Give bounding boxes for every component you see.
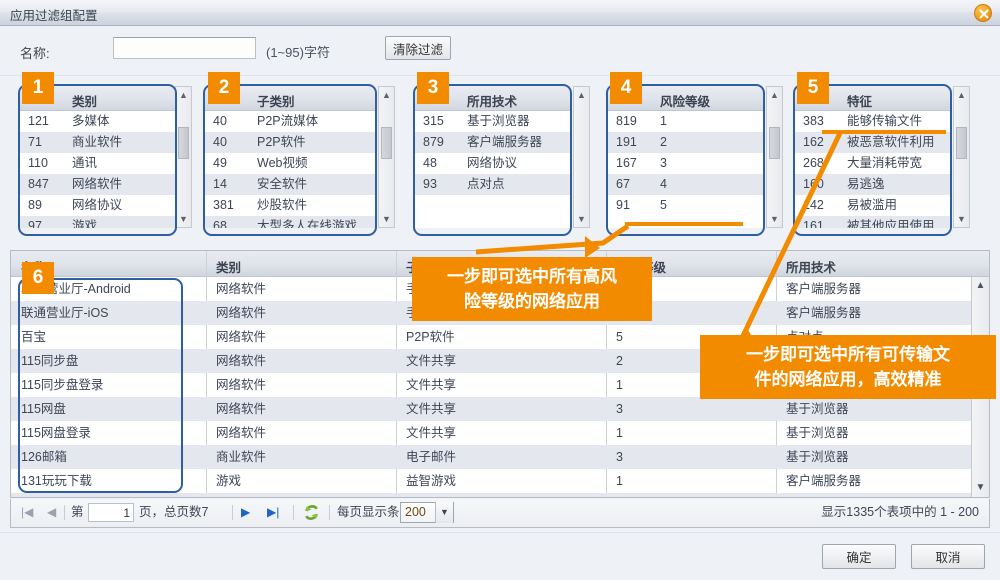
table-row[interactable]: 126邮箱商业软件电子邮件3基于浏览器 [11,445,989,469]
list-item[interactable]: 674 [608,174,763,195]
scrollbar-subcategory[interactable]: ▲ ▼ [378,86,395,228]
column-header-category[interactable]: 类别 [216,257,241,276]
filter-list-characteristic: 383能够传输文件 162被恶意软件利用 268大量消耗带宽 160易逃逸 14… [795,111,950,228]
list-item[interactable]: 847网络软件 [20,174,175,195]
filter-box-characteristic: 特征 383能够传输文件 162被恶意软件利用 268大量消耗带宽 160易逃逸… [795,86,950,228]
next-page-icon[interactable]: ▶ [241,499,250,526]
chevron-down-icon[interactable]: ▼ [176,211,191,227]
list-item[interactable]: 40P2P流媒体 [205,111,375,132]
divider [293,505,294,520]
table-row[interactable]: 131玩玩下载游戏益智游戏1客户端服务器 [11,469,989,493]
divider [329,505,330,520]
filter-box-risk: 风险等级 8191 1912 1673 674 915 [608,86,763,228]
scrollbar-thumb[interactable] [178,127,189,159]
name-label: 名称: [20,43,50,62]
cancel-button[interactable]: 取消 [911,544,985,569]
records-summary: 显示1335个表项中的 1 - 200 [821,499,979,526]
filter-box-category: 类别 121多媒体 71商业软件 110通讯 847网络软件 89网络协议 97… [20,86,175,228]
list-item[interactable]: 93点对点 [415,174,570,195]
callout-risk-level: 一步即可选中所有高风 险等级的网络应用 [412,257,652,321]
list-item[interactable]: 121多媒体 [20,111,175,132]
table-row[interactable]: 115网盘登录网络软件文件共享1基于浏览器 [11,421,989,445]
list-item[interactable]: 1912 [608,132,763,153]
name-row: 名称: (1~95)字符 清除过滤 [0,27,1000,76]
table-row[interactable]: 115网盘网络软件文件共享3基于浏览器 [11,397,989,421]
step-badge-5: 5 [797,72,829,104]
callout-file-transfer: 一步即可选中所有可传输文 件的网络应用，高效精准 [700,335,996,399]
list-item[interactable]: 68大型多人在线游戏 [205,216,375,228]
chevron-up-icon[interactable]: ▲ [379,87,394,103]
list-item[interactable]: 71商业软件 [20,132,175,153]
chevron-down-icon[interactable]: ▼ [954,211,969,227]
first-page-icon[interactable]: |◀ [21,499,33,526]
chevron-up-icon[interactable]: ▲ [954,87,969,103]
page-prefix-label: 第 [71,499,84,526]
scrollbar-thumb[interactable] [769,127,780,159]
scrollbar-category[interactable]: ▲ ▼ [175,86,192,228]
list-item[interactable]: 14安全软件 [205,174,375,195]
filter-list-risk: 8191 1912 1673 674 915 [608,111,763,228]
dialog-footer: 确定 取消 [0,532,1000,580]
confirm-button[interactable]: 确定 [822,544,896,569]
table-row[interactable]: 131玩玩游戏游戏益智游戏1客户端服务器 [11,493,989,497]
filter-list-category: 121多媒体 71商业软件 110通讯 847网络软件 89网络协议 97游戏 [20,111,175,228]
accent-underline-characteristic [822,130,946,134]
list-item[interactable]: 97游戏 [20,216,175,228]
step-badge-2: 2 [208,72,240,104]
page-number-input[interactable] [88,503,134,522]
close-icon[interactable] [974,4,992,22]
list-item[interactable]: 1673 [608,153,763,174]
list-item[interactable]: 48网络协议 [415,153,570,174]
list-item[interactable]: 160易逃逸 [795,174,950,195]
list-item[interactable]: 383能够传输文件 [795,111,950,132]
list-item[interactable]: 268大量消耗带宽 [795,153,950,174]
filter-box-technology: 所用技术 315基于浏览器 879客户端服务器 48网络协议 93点对点 [415,86,570,228]
chevron-up-icon[interactable]: ▲ [176,87,191,103]
step-badge-4: 4 [610,72,642,104]
scrollbar-risk[interactable]: ▲ ▼ [766,86,783,228]
scrollbar-thumb[interactable] [381,127,392,159]
list-item[interactable]: 142易被滥用 [795,195,950,216]
name-input[interactable] [113,37,256,59]
chevron-up-icon[interactable]: ▲ [574,87,589,103]
page-total-label: 页，总页数7 [139,499,208,526]
title-bar: 应用过滤组配置 [0,0,1000,26]
list-item[interactable]: 110通讯 [20,153,175,174]
accent-underline-risk [625,222,743,226]
list-item[interactable]: 161被其他应用使用 [795,216,950,228]
chevron-down-icon[interactable]: ▼ [972,479,989,497]
list-item[interactable]: 49Web视频 [205,153,375,174]
step-badge-3: 3 [417,72,449,104]
list-item[interactable]: 89网络协议 [20,195,175,216]
divider [232,505,233,520]
chevron-up-icon[interactable]: ▲ [972,277,989,295]
chevron-down-icon[interactable]: ▼ [767,211,782,227]
column-header-technology[interactable]: 所用技术 [786,257,836,276]
list-item[interactable]: 315基于浏览器 [415,111,570,132]
chevron-down-icon[interactable]: ▼ [379,211,394,227]
list-item[interactable]: 879客户端服务器 [415,132,570,153]
list-item[interactable]: 381炒股软件 [205,195,375,216]
list-item[interactable]: 8191 [608,111,763,132]
chevron-down-icon[interactable]: ▼ [435,502,453,523]
filter-box-subcategory: 子类别 40P2P流媒体 40P2P软件 49Web视频 14安全软件 381炒… [205,86,375,228]
filter-columns: 类别 121多媒体 71商业软件 110通讯 847网络软件 89网络协议 97… [0,76,1000,236]
filter-list-technology: 315基于浏览器 879客户端服务器 48网络协议 93点对点 [415,111,570,228]
scrollbar-thumb[interactable] [956,127,967,159]
step-badge-6: 6 [22,262,54,294]
prev-page-icon[interactable]: ◀ [47,499,56,526]
per-page-value: 200 [405,505,426,519]
per-page-select[interactable]: 200 ▼ [400,502,454,523]
filter-list-subcategory: 40P2P流媒体 40P2P软件 49Web视频 14安全软件 381炒股软件 … [205,111,375,228]
scrollbar-characteristic[interactable]: ▲ ▼ [953,86,970,228]
last-page-icon[interactable]: ▶| [267,499,279,526]
scrollbar-technology[interactable]: ▲ ▼ [573,86,590,228]
list-item[interactable]: 40P2P软件 [205,132,375,153]
name-length-hint: (1~95)字符 [266,42,330,61]
list-item[interactable]: 915 [608,195,763,216]
chevron-up-icon[interactable]: ▲ [767,87,782,103]
page-title: 应用过滤组配置 [10,5,98,24]
refresh-icon[interactable] [303,504,320,521]
clear-filter-button[interactable]: 清除过滤 [385,36,451,60]
pagination-bar: |◀ ◀ 第 页，总页数7 ▶ ▶| 每页显示条目数 200 ▼ 显示1335个… [10,499,990,528]
chevron-down-icon[interactable]: ▼ [574,211,589,227]
list-item[interactable] [415,195,570,216]
step-badge-1: 1 [22,72,54,104]
dialog-window: 应用过滤组配置 名称: (1~95)字符 清除过滤 类别 121多媒体 71商业… [0,0,1000,580]
list-item[interactable] [415,216,570,228]
list-item[interactable]: 162被恶意软件利用 [795,132,950,153]
divider [64,505,65,520]
